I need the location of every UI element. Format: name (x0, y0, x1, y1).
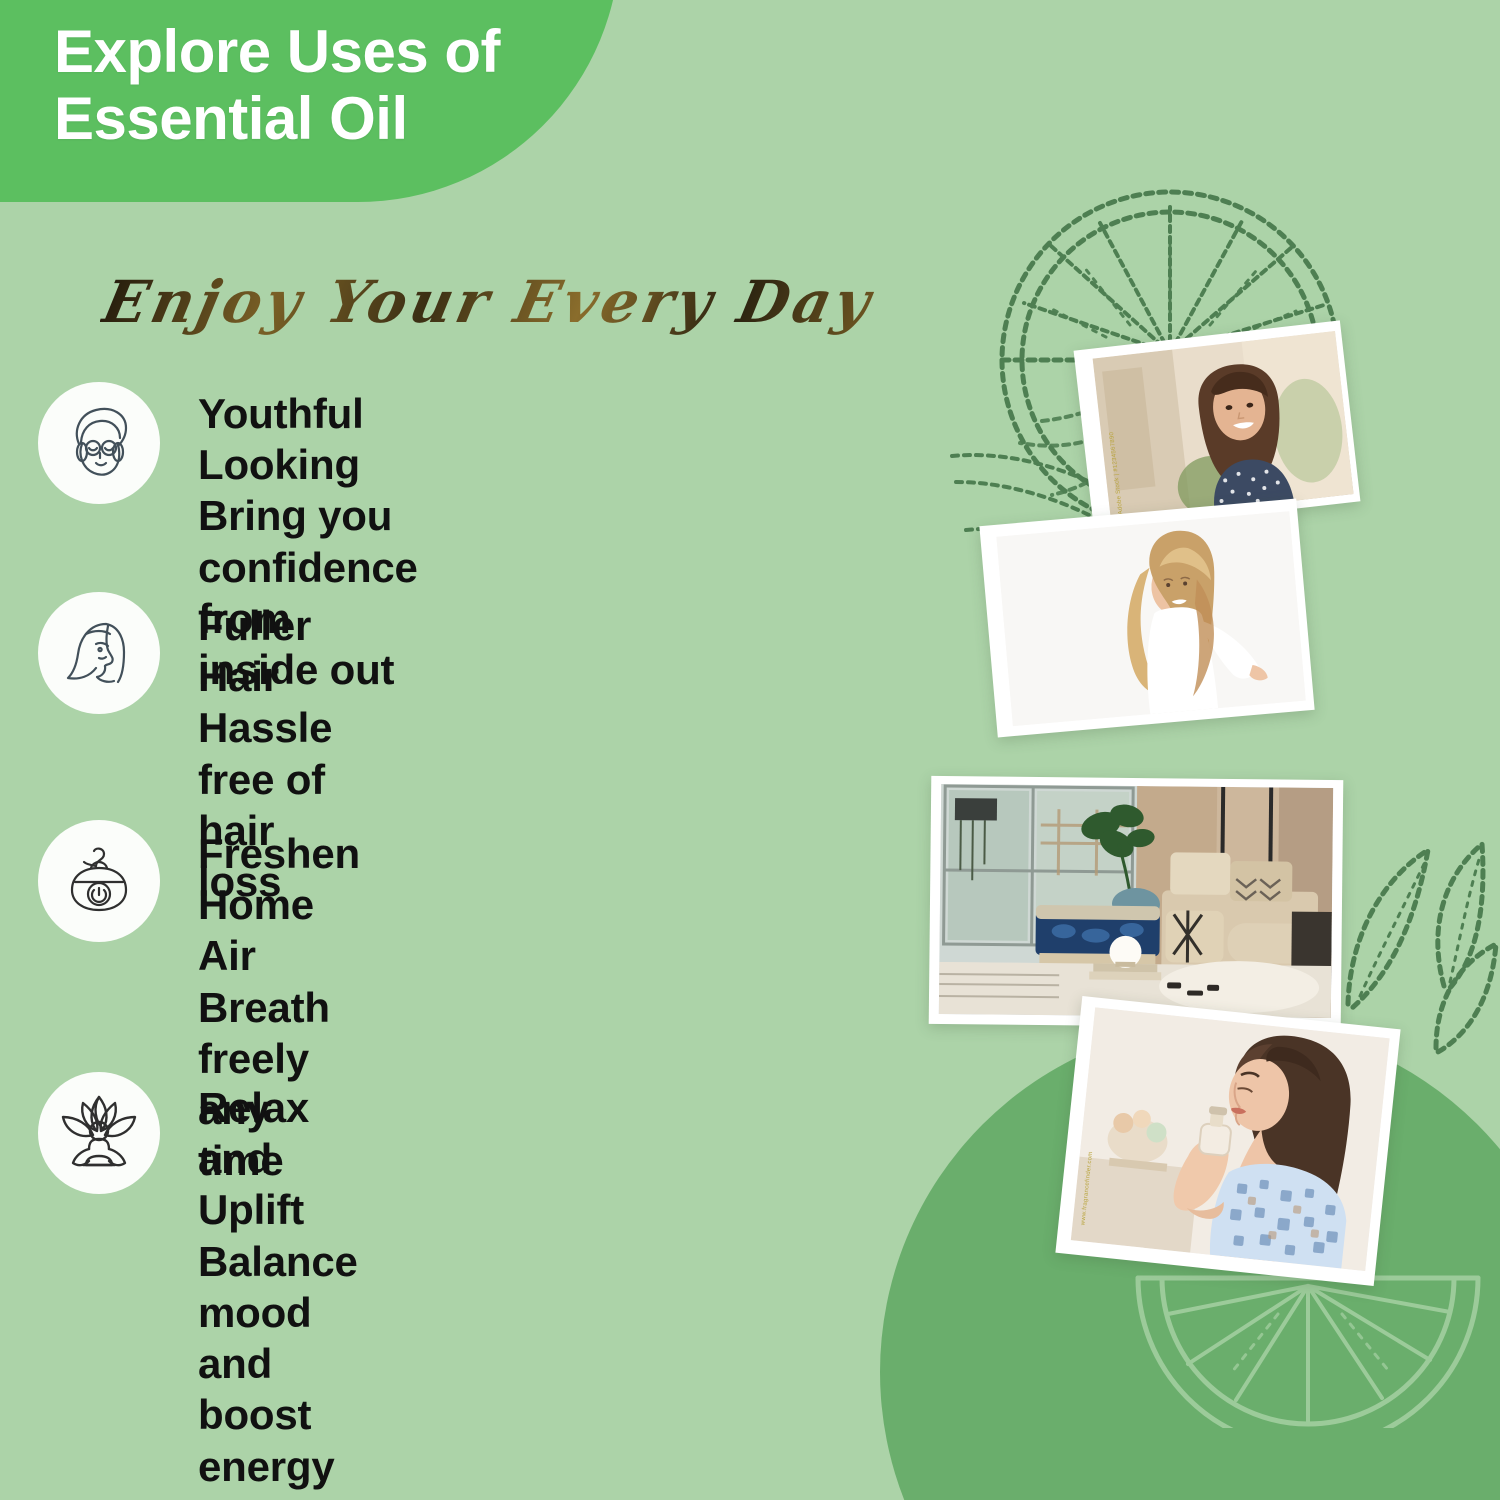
photo-youthful-image (1093, 331, 1354, 522)
long-hair-profile-icon (38, 592, 160, 714)
photo-hair-image (996, 511, 1305, 726)
aroma-diffuser-icon (38, 820, 160, 942)
face-mask-icon (38, 382, 160, 504)
infographic-canvas: Explore Uses of Essential Oil Enjoy Your… (0, 0, 1500, 1500)
photo-youthful: Adobe Stock | #1234567890 (1074, 320, 1361, 531)
feature-title: Freshen Home Air (198, 830, 360, 979)
photo-hair (979, 499, 1314, 738)
feature-title: Relax and Uplift (198, 1084, 309, 1233)
page-title: Explore Uses of Essential Oil (54, 18, 500, 152)
feature-title: Fuller Hair (198, 602, 311, 700)
tagline: Enjoy Your Every Day (97, 268, 880, 336)
photo-relax: www.fragrancefinder.com (1055, 996, 1400, 1286)
photo-home (929, 776, 1344, 1028)
leaf-cluster-right-icon (1332, 836, 1500, 1056)
lotus-meditation-icon (38, 1072, 160, 1194)
feature-subtitle: Balance mood and boost energy (198, 1238, 358, 1490)
photo-home-image (939, 784, 1333, 1018)
feature-text: Relax and UpliftBalance mood and boost e… (198, 1072, 358, 1492)
photo-relax-image (1071, 1007, 1390, 1271)
feature-title: Youthful Looking (198, 390, 364, 488)
feature-row: Relax and UpliftBalance mood and boost e… (38, 1072, 358, 1492)
